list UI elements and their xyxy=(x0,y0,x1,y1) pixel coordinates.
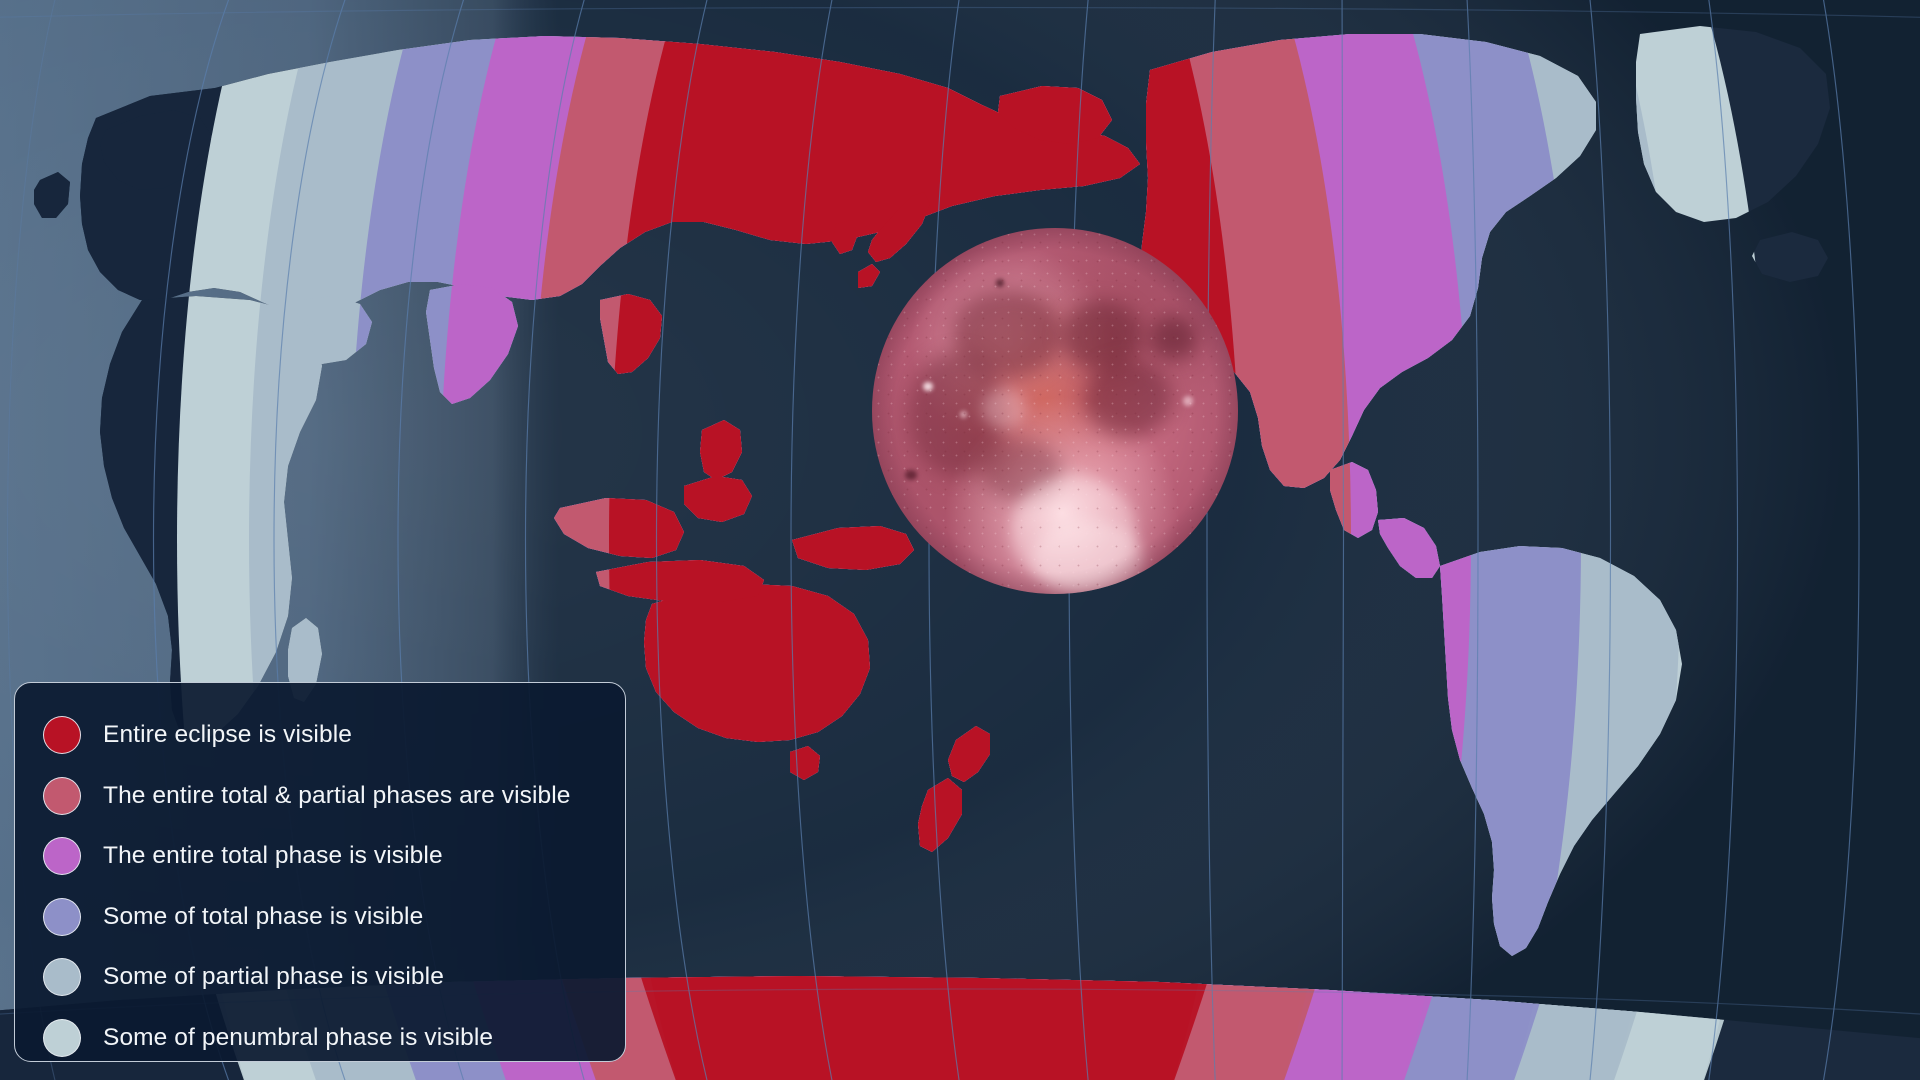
legend-panel: Entire eclipse is visible The entire tot… xyxy=(14,682,626,1062)
legend-label: Some of penumbral phase is visible xyxy=(103,1024,493,1052)
eclipse-visibility-map: Entire eclipse is visible The entire tot… xyxy=(0,0,1920,1080)
legend-item-some-partial-phase[interactable]: Some of partial phase is visible xyxy=(15,947,625,1008)
legend-label: Some of partial phase is visible xyxy=(103,963,444,991)
legend-item-entire-eclipse[interactable]: Entire eclipse is visible xyxy=(15,705,625,766)
legend-item-some-total-phase[interactable]: Some of total phase is visible xyxy=(15,887,625,948)
legend-label: Entire eclipse is visible xyxy=(103,721,352,749)
legend-swatch-icon xyxy=(43,716,81,754)
legend-swatch-icon xyxy=(43,837,81,875)
legend-label: Some of total phase is visible xyxy=(103,903,423,931)
legend-swatch-icon xyxy=(43,898,81,936)
legend-item-entire-total-phase[interactable]: The entire total phase is visible xyxy=(15,826,625,887)
legend-item-total-and-partial[interactable]: The entire total & partial phases are vi… xyxy=(15,766,625,827)
legend-item-some-penumbral-phase[interactable]: Some of penumbral phase is visible xyxy=(15,1008,625,1069)
legend-swatch-icon xyxy=(43,777,81,815)
legend-label: The entire total & partial phases are vi… xyxy=(103,782,571,810)
legend-swatch-icon xyxy=(43,1019,81,1057)
legend-label: The entire total phase is visible xyxy=(103,842,443,870)
legend-swatch-icon xyxy=(43,958,81,996)
